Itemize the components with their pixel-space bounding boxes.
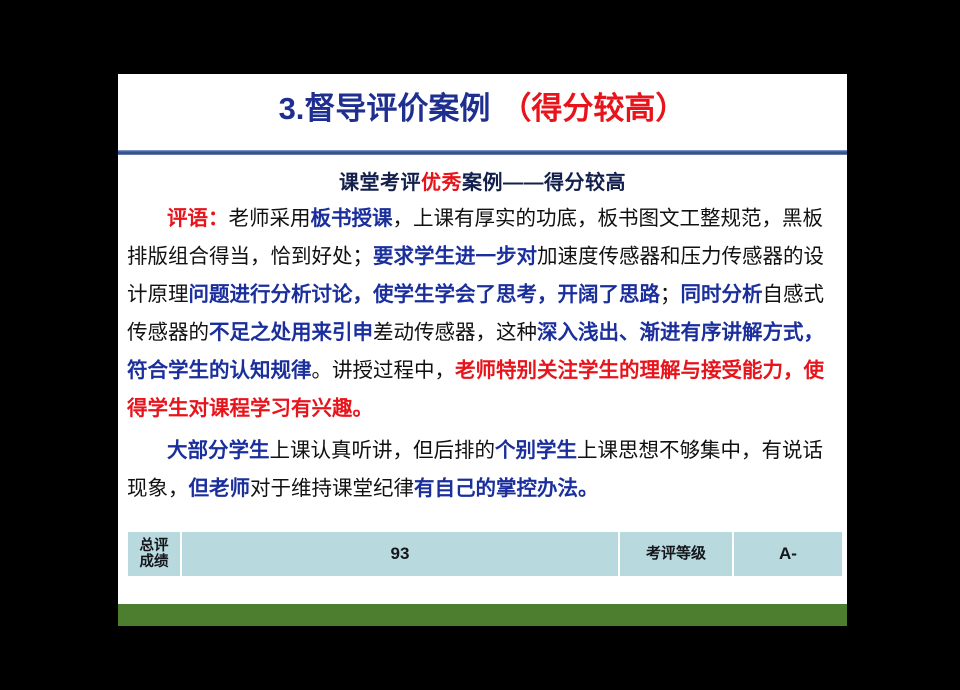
title-divider-rule [118, 150, 847, 155]
evaluation-result-table: 总评成绩 93 考评等级 A- [128, 532, 842, 576]
table-cell-score-label: 总评成绩 [128, 532, 180, 576]
slide-subtitle: 课堂考评优秀案例——得分较高 [118, 166, 847, 195]
p2-seg-2: 上课认真听讲，但后排的 [270, 439, 496, 462]
table-cell-grade-label: 考评等级 [620, 532, 732, 576]
table-cell-grade-value: A- [734, 532, 842, 576]
p1-seg-9-emphasis: 同时分析 [681, 283, 763, 306]
evaluation-label: 评语： [167, 207, 229, 230]
p1-seg-2: 老师采用 [229, 207, 311, 230]
screenshot-root: 3.督导评价案例（得分较高） 课堂考评优秀案例——得分较高 评语：老师采用板书授… [0, 0, 960, 690]
slide-title-parenthetical: （得分较高） [500, 91, 686, 126]
slide-title: 3.督导评价案例（得分较高） [118, 90, 847, 127]
subtitle-part-2: 案例——得分较高 [462, 172, 626, 194]
p1-seg-11-emphasis: 不足之处用来引申 [209, 321, 373, 344]
evaluation-paragraph-1: 评语：老师采用板书授课，上课有厚实的功底，板书图文工整规范，黑板排版组合得当，恰… [127, 200, 841, 428]
p1-seg-3-emphasis: 板书授课 [311, 207, 393, 230]
subtitle-part-1: 课堂考评 [339, 172, 421, 194]
slide-body-text: 评语：老师采用板书授课，上课有厚实的功底，板书图文工整规范，黑板排版组合得当，恰… [127, 200, 841, 508]
p1-seg-5-emphasis: 要求学生进一步对 [373, 245, 537, 268]
p2-seg-7-emphasis: 有自己的掌控办法。 [414, 477, 599, 500]
p2-seg-3-emphasis: 个别学生 [495, 439, 577, 462]
evaluation-paragraph-2: 大部分学生上课认真听讲，但后排的个别学生上课思想不够集中，有说话现象，但老师对于… [127, 432, 841, 508]
slide-title-main: 3.督导评价案例 [279, 91, 491, 126]
slide-footer-bar [118, 604, 847, 626]
p1-seg-12: 差动传感器，这种 [373, 321, 537, 344]
p1-seg-8: ； [660, 283, 681, 306]
score-label-line-1: 总评 [140, 538, 169, 554]
p2-seg-5-emphasis: 但老师 [189, 477, 251, 500]
subtitle-highlight: 优秀 [421, 172, 462, 194]
presentation-slide: 3.督导评价案例（得分较高） 课堂考评优秀案例——得分较高 评语：老师采用板书授… [118, 74, 847, 626]
table-cell-score-value: 93 [182, 532, 618, 576]
score-label-line-2: 成绩 [140, 554, 169, 570]
p1-seg-7-emphasis: 问题进行分析讨论，使学生学会了思考，开阔了思路 [189, 283, 661, 306]
score-label-text: 总评成绩 [140, 538, 169, 570]
p2-seg-6: 对于维持课堂纪律 [250, 477, 414, 500]
p2-seg-1-emphasis: 大部分学生 [167, 439, 270, 462]
p1-seg-14: 。讲授过程中， [312, 359, 456, 382]
